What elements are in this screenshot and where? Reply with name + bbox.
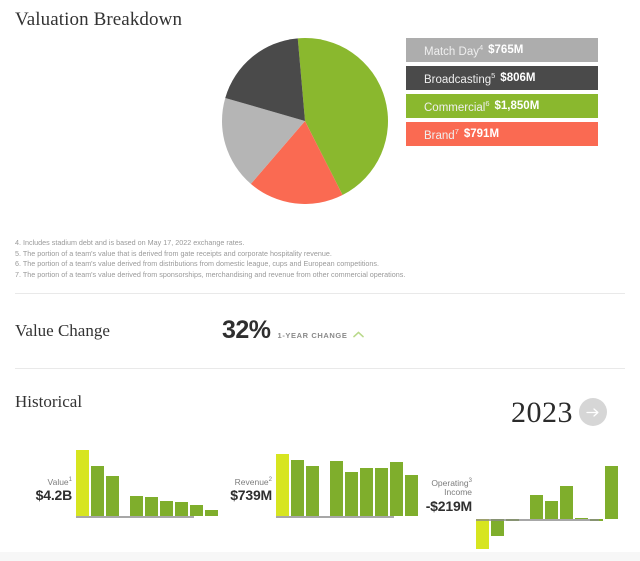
footnote: 5. The portion of a team's value that is… [15,249,615,260]
caret-up-icon [353,325,364,343]
bar [330,461,343,516]
bar [530,495,543,519]
mini-chart-label: Operating3Income-$219M [400,478,472,515]
legend-item-value: $765M [488,44,523,56]
next-year-button[interactable] [579,398,607,426]
bar [91,466,104,516]
mini-chart-value: -$219M [400,499,472,515]
footnote: 7. The portion of a team's value derived… [15,270,615,281]
bar [130,496,143,516]
mini-chart-name: Value1 [0,477,72,487]
mini-chart-bars [276,445,396,519]
bar [605,466,618,519]
bar [491,519,504,536]
pie-svg [222,38,388,204]
divider [15,293,625,294]
historical-title: Historical [15,392,82,412]
mini-chart-value: $739M [200,488,272,504]
footnotes-list: 4. Includes stadium debt and is based on… [15,238,615,281]
bar [560,486,573,519]
legend-item-label: Match Day4 [424,43,483,58]
legend-item-label: Brand7 [424,127,459,142]
bar [375,468,388,516]
mini-chart-label: Value1$4.2B [0,477,72,504]
value-change-row: 32% 1-YEAR CHANGE [222,316,364,345]
value-change-percent: 32% [222,316,271,345]
bar [76,450,89,516]
historical-year: 2023 [511,396,573,430]
bar [476,519,489,549]
value-change-label: 1-YEAR CHANGE [278,331,348,340]
legend-item-value: $806M [500,72,535,84]
valuation-legend: Match Day4$765MBroadcasting5$806MCommerc… [406,38,598,150]
legend-item[interactable]: Broadcasting5$806M [406,66,598,90]
zero-axis-line [76,516,194,518]
zero-axis-line [476,519,599,521]
bar [291,460,304,516]
legend-item-label: Commercial6 [424,99,490,114]
page-title: Valuation Breakdown [15,9,182,31]
bar [276,454,289,516]
bar [345,472,358,516]
bar [190,505,203,516]
mini-chart-name: Revenue2 [200,477,272,487]
bar [145,497,158,516]
footnote: 6. The portion of a team's value derived… [15,259,615,270]
bar [106,476,119,516]
legend-item-value: $791M [464,128,499,140]
mini-chart-bars [76,445,196,519]
valuation-pie-chart [222,38,388,204]
legend-item[interactable]: Match Day4$765M [406,38,598,62]
bottom-band [0,552,640,561]
bar [205,510,218,516]
mini-chart-value: $4.2B [0,488,72,504]
zero-axis-line [276,516,394,518]
legend-item-value: $1,850M [495,100,540,112]
divider [15,368,625,369]
bar [306,466,319,516]
valuation-page: Valuation Breakdown Match Day4$765MBroad… [0,0,640,561]
footnote: 4. Includes stadium debt and is based on… [15,238,615,249]
legend-item[interactable]: Commercial6$1,850M [406,94,598,118]
bar [360,468,373,516]
mini-chart-bars [476,440,601,555]
bar [160,501,173,516]
legend-item-label: Broadcasting5 [424,71,495,86]
bar [175,502,188,516]
value-change-title: Value Change [15,321,110,341]
bar [545,501,558,519]
mini-chart-label: Revenue2$739M [200,477,272,504]
arrow-right-icon [586,407,600,418]
mini-chart-name: Operating3Income [400,478,472,498]
legend-item[interactable]: Brand7$791M [406,122,598,146]
